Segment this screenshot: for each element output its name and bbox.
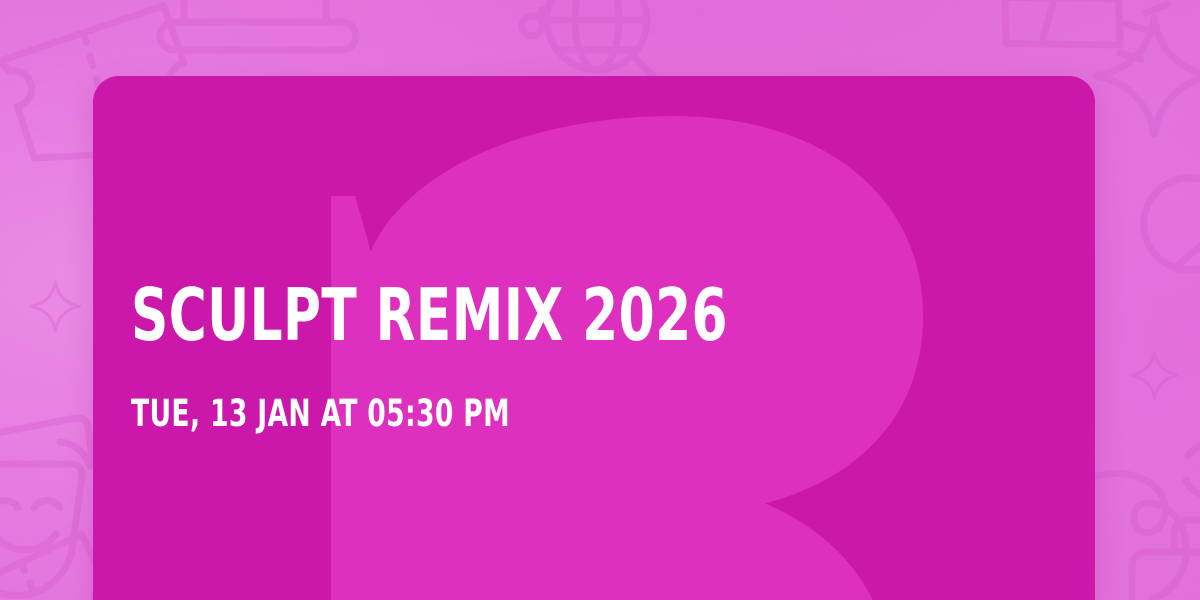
music-note-icon bbox=[522, 10, 542, 36]
microphone-icon bbox=[1125, 159, 1200, 322]
event-title: SCULPT REMIX 2026 bbox=[131, 280, 728, 351]
event-share-card: SCULPT REMIX 2026 TUE, 13 JAN AT 05:30 P… bbox=[0, 0, 1200, 600]
podium-icon bbox=[160, 0, 356, 50]
event-detail-card: SCULPT REMIX 2026 TUE, 13 JAN AT 05:30 P… bbox=[93, 76, 1095, 600]
sparkle-icon bbox=[31, 282, 80, 331]
globe-icon bbox=[535, 0, 663, 86]
confetti-icon bbox=[993, 0, 1167, 83]
event-datetime: TUE, 13 JAN AT 05:30 PM bbox=[131, 395, 510, 432]
sparkle-icon bbox=[1096, 18, 1200, 134]
card-text-block: SCULPT REMIX 2026 TUE, 13 JAN AT 05:30 P… bbox=[131, 76, 1051, 600]
sparkle-icon bbox=[1131, 352, 1177, 398]
